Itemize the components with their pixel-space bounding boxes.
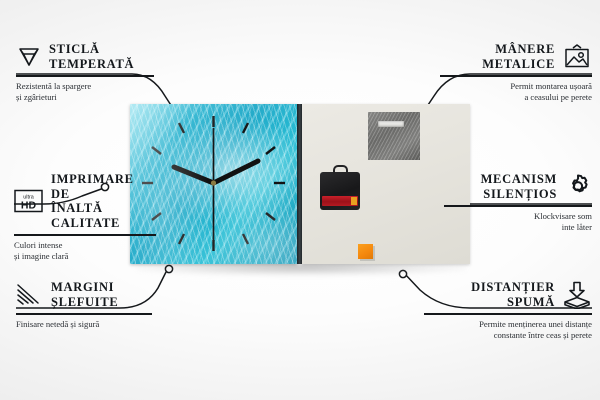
callout-title-line1: MÂNERE (495, 42, 555, 56)
callout-title-line2: ÎNALTĂ CALITATE (51, 201, 120, 230)
gear-icon (564, 173, 592, 200)
clock-hour-hand (174, 167, 214, 183)
callout-subtitle-line1: Finisare netedă și sigură (16, 319, 99, 329)
callout-subtitle-line1: Rezistentă la spargere (16, 81, 91, 91)
hanger-slot (378, 121, 404, 127)
callout-subtitle-line1: Culori intense (14, 240, 62, 250)
callout-subtitle-line2: și imagine clară (14, 251, 68, 261)
callout-subtitle-line2: și zgârieturi (16, 92, 57, 102)
callout-title-line2: SPUMĂ (507, 295, 555, 309)
foam-spacer (358, 244, 373, 259)
callout-title-line2: TEMPERATĂ (49, 57, 134, 71)
callout-subtitle-line1: Permit montarea ușoară (510, 81, 592, 91)
callout-rule (444, 205, 592, 207)
product-shadow (136, 262, 466, 276)
callout-subtitle-line2: inte låter (562, 222, 592, 232)
callout-title-line1: MECANISM (481, 172, 557, 186)
metal-hanger (368, 112, 420, 160)
foam-spacer-icon (562, 281, 592, 309)
quartz-movement (320, 172, 360, 210)
diamond-icon (16, 46, 42, 68)
callout-title-line2: METALICE (482, 57, 555, 71)
ultra-hd-icon-main-label: HD (21, 199, 37, 211)
polished-edges-icon (16, 283, 44, 306)
callout-manere-metalice: MÂNEREMETALICE Permit montarea ușoarăa c… (440, 42, 592, 103)
ultra-hd-icon: ultra HD (14, 189, 44, 213)
callout-rule (424, 313, 592, 315)
callout-subtitle-line1: Permite menținerea unei distanțe (479, 319, 592, 329)
battery (322, 196, 358, 206)
clock-minute-hand (214, 161, 259, 183)
callout-subtitle-line2: a ceasului pe perete (524, 92, 592, 102)
battery-terminal (351, 197, 357, 205)
callout-rule (16, 313, 152, 315)
callout-title-line1: MARGINI (51, 280, 114, 294)
callout-title-line1: DISTANȚIER (471, 280, 555, 294)
callout-rule (440, 75, 592, 77)
callout-imprimare-inalta-calitate: ultra HD IMPRIMARE DEÎNALTĂ CALITATE Cul… (14, 172, 156, 262)
callout-mecanism-silentios: MECANISMSILENȚIOS Klockvisare sominte lå… (444, 172, 592, 233)
callout-title-line1: IMPRIMARE DE (51, 172, 134, 201)
callout-rule (14, 234, 156, 236)
clock-center-cap (211, 180, 216, 185)
callout-distantier-spuma: DISTANȚIERSPUMĂ Permite menținerea unei … (424, 280, 592, 341)
callout-title-line2: SILENȚIOS (483, 187, 557, 201)
callout-subtitle-line2: constante între ceas și perete (494, 330, 592, 340)
callout-margini-slefuite: MARGINIȘLEFUITE Finisare netedă și sigur… (16, 280, 152, 330)
callout-subtitle-line1: Klockvisare som (534, 211, 592, 221)
product-image (130, 104, 470, 269)
callout-sticla-temperata: STICLĂTEMPERATĂ Rezistentă la spargereși… (16, 42, 154, 103)
movement-hook (333, 165, 348, 174)
callout-title-line2: ȘLEFUITE (51, 295, 118, 309)
callout-title-line1: STICLĂ (49, 42, 100, 56)
picture-hanger-icon (562, 44, 592, 70)
callout-rule (16, 75, 154, 77)
